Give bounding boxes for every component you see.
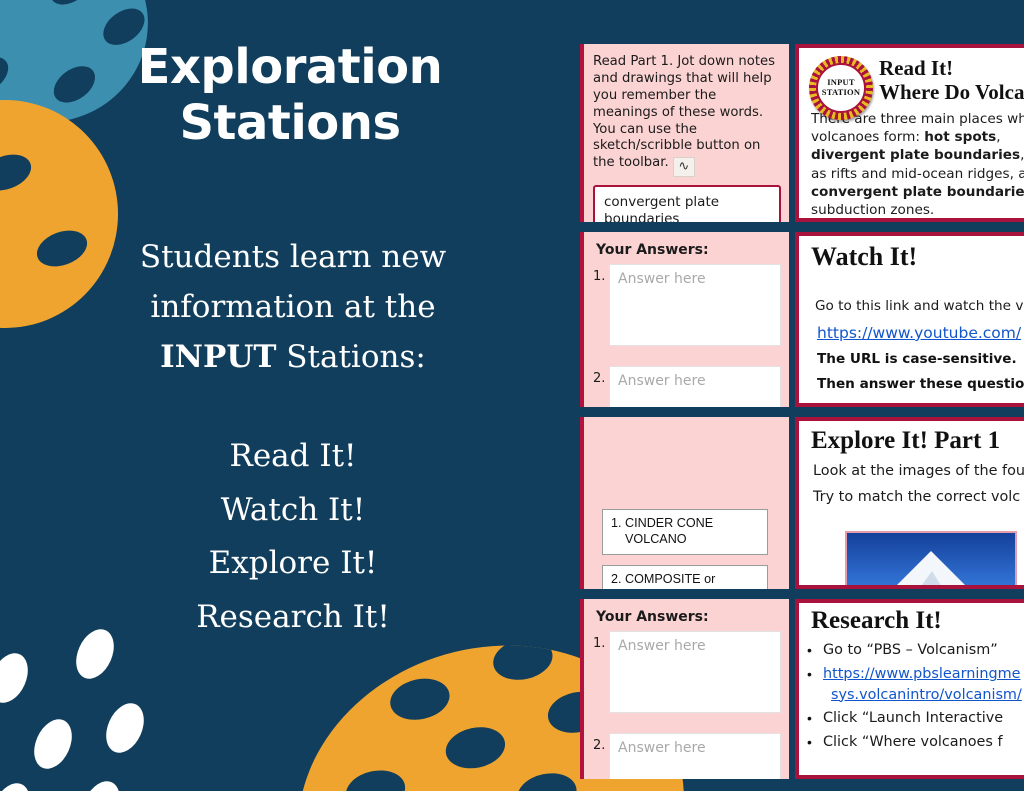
intro-emphasis: INPUT: [160, 339, 276, 375]
answer-number: 1.: [593, 631, 609, 651]
read-it-heading: Read It! Where Do Volca: [879, 56, 1024, 104]
slide-read-it[interactable]: INPUT STATION Read It! Where Do Volca Th…: [795, 44, 1024, 222]
slide-thumbnail-strip: Read Part 1. Jot down notes and drawings…: [580, 0, 1024, 791]
rb3-bold: divergent plate boundaries: [811, 147, 1020, 163]
page-title-line-2: Stations: [0, 96, 580, 152]
page-title-line-1: Exploration: [0, 40, 580, 96]
answer-input-2[interactable]: Answer here: [609, 733, 781, 779]
answer-input-1[interactable]: Answer here: [609, 631, 781, 713]
slide-research-it[interactable]: Research It! • Go to “PBS – Volcanism” •…: [795, 599, 1024, 779]
explore-it-heading: Explore It! Part 1: [811, 427, 1024, 455]
read-notes-instructions: Read Part 1. Jot down notes and drawings…: [584, 44, 789, 177]
read-it-body-line-6: subduction zones.: [811, 201, 1018, 219]
slide-canvas: Exploration Stations Students learn new …: [0, 0, 1024, 791]
bullet-icon: •: [807, 710, 823, 727]
volcano-photo: [845, 531, 1017, 589]
intro-line-3-tail: Stations:: [276, 339, 425, 375]
read-notes-instructions-text: Read Part 1. Jot down notes and drawings…: [593, 54, 775, 170]
slide-row-4: Your Answers: 1. Answer here 2. Answer h…: [580, 599, 1024, 779]
answers-title: Your Answers:: [584, 599, 789, 631]
answer-number: 1.: [593, 264, 609, 284]
read-it-heading-line-2: Where Do Volca: [879, 80, 1024, 104]
answer-row: 2. Answer here: [584, 366, 789, 407]
watch-it-then: Then answer these question: [817, 376, 1024, 392]
station-item-research: Research It!: [78, 591, 508, 645]
rb2-tail: ,: [996, 129, 1000, 145]
read-it-body-line-2: volcanoes form: hot spots,: [811, 128, 1018, 146]
research-it-list: • Go to “PBS – Volcanism” • https://www.…: [807, 642, 1024, 751]
left-text-column: Exploration Stations Students learn new …: [0, 0, 580, 791]
watch-it-note: The URL is case-sensitive.: [817, 351, 1024, 367]
research-item: • Click “Where volcanoes f: [807, 734, 1024, 751]
slide-answers-1[interactable]: Your Answers: 1. Answer here 2. Answer h…: [580, 232, 789, 407]
intro-paragraph: Students learn new information at the IN…: [78, 232, 508, 383]
rb2-plain: volcanoes form:: [811, 129, 924, 145]
watch-it-instruction: Go to this link and watch the vi: [815, 298, 1024, 314]
slide-answers-2[interactable]: Your Answers: 1. Answer here 2. Answer h…: [580, 599, 789, 779]
scribble-icon[interactable]: ∿: [673, 157, 695, 177]
seal-line-2: STATION: [822, 88, 860, 98]
answer-row: 1. Answer here: [584, 264, 789, 346]
research-item-link-continued[interactable]: sys.volcanintro/volcanism/: [831, 687, 1024, 703]
research-item-text: Click “Where volcanoes f: [823, 734, 1003, 751]
watch-it-heading: Watch It!: [811, 242, 1024, 272]
read-it-body-line-5: convergent plate boundaries,: [811, 183, 1018, 201]
slide-explore-it[interactable]: Explore It! Part 1 Look at the images of…: [795, 417, 1024, 589]
page-title: Exploration Stations: [0, 40, 580, 151]
answer-number: 2.: [593, 733, 609, 753]
bullet-icon: •: [807, 666, 823, 683]
answers-title: Your Answers:: [584, 232, 789, 264]
answer-input-2[interactable]: Answer here: [609, 366, 781, 407]
answer-row: 2. Answer here: [584, 733, 789, 779]
research-item: • https://www.pbslearningme: [807, 666, 1024, 683]
slide-row-2: Your Answers: 1. Answer here 2. Answer h…: [580, 232, 1024, 407]
slide-watch-it[interactable]: Watch It! Go to this link and watch the …: [795, 232, 1024, 407]
read-it-body-line-3: divergent plate boundaries, su: [811, 146, 1018, 164]
bullet-icon: •: [807, 734, 823, 751]
station-list: Read It! Watch It! Explore It! Research …: [78, 430, 508, 645]
research-it-heading: Research It!: [811, 607, 1024, 635]
watch-it-link[interactable]: https://www.youtube.com/: [817, 324, 1024, 342]
research-item: • Click “Launch Interactive: [807, 710, 1024, 727]
answer-input-1[interactable]: Answer here: [609, 264, 781, 346]
volcano-label-box-1[interactable]: 1.CINDER CONE VOLCANO: [602, 509, 768, 555]
volcano-label-number: 1.: [611, 516, 625, 532]
bullet-icon: •: [807, 642, 823, 659]
intro-line-2: information at the: [78, 282, 508, 332]
volcano-label-box-2[interactable]: 2.COMPOSITE or: [602, 565, 768, 589]
intro-line-1: Students learn new: [78, 232, 508, 282]
station-item-watch: Watch It!: [78, 484, 508, 538]
rb5-bold: convergent plate boundaries: [811, 184, 1024, 200]
research-item: • Go to “PBS – Volcanism”: [807, 642, 1024, 659]
slide-row-1: Read Part 1. Jot down notes and drawings…: [580, 44, 1024, 222]
slide-row-3: 1.CINDER CONE VOLCANO 2.COMPOSITE or Exp…: [580, 417, 1024, 589]
read-it-heading-line-1: Read It!: [879, 56, 1024, 80]
slide-volcano-labels[interactable]: 1.CINDER CONE VOLCANO 2.COMPOSITE or: [580, 417, 789, 589]
explore-it-line-2: Try to match the correct volc: [813, 487, 1024, 507]
volcano-label-number: 2.: [611, 572, 625, 588]
research-item-text: Go to “PBS – Volcanism”: [823, 642, 998, 659]
answer-row: 1. Answer here: [584, 631, 789, 713]
input-station-seal-icon: INPUT STATION: [809, 56, 873, 120]
rb2-bold: hot spots: [924, 129, 996, 145]
slide-read-notes[interactable]: Read Part 1. Jot down notes and drawings…: [580, 44, 789, 222]
research-item-text: Click “Launch Interactive: [823, 710, 1003, 727]
station-item-explore: Explore It!: [78, 537, 508, 591]
answer-number: 2.: [593, 366, 609, 386]
volcano-label-text: CINDER CONE VOLCANO: [625, 516, 747, 548]
research-item-link[interactable]: https://www.pbslearningme: [823, 666, 1021, 683]
intro-line-3: INPUT Stations:: [78, 332, 508, 382]
explore-it-line-1: Look at the images of the fou: [813, 461, 1024, 481]
read-it-body: There are three main places wher volcano…: [799, 104, 1024, 218]
seal-inner: INPUT STATION: [816, 63, 866, 113]
term-input-box[interactable]: convergent plate boundaries Type/draw he…: [593, 185, 781, 222]
volcano-label-text: COMPOSITE or: [625, 572, 747, 588]
rb3-tail: , su: [1020, 147, 1024, 163]
term-label: convergent plate boundaries: [604, 194, 770, 222]
station-item-read: Read It!: [78, 430, 508, 484]
read-it-body-line-4: as rifts and mid-ocean ridges, an: [811, 165, 1018, 183]
